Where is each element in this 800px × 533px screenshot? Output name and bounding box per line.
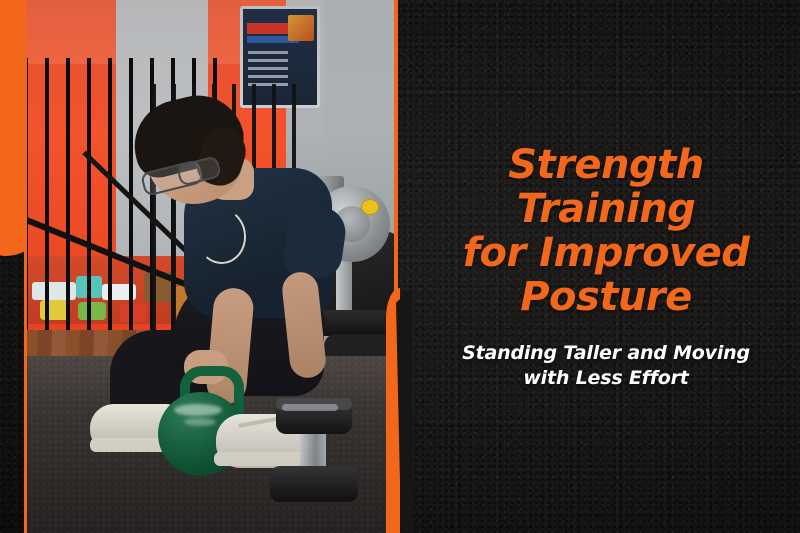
page-title: Strength Training for Improved Posture	[457, 143, 756, 319]
photo-shading	[24, 0, 397, 533]
orange-edge-line-left	[24, 0, 27, 533]
page-subtitle: Standing Taller and Moving with Less Eff…	[438, 341, 774, 391]
text-panel: Strength Training for Improved Posture S…	[412, 0, 800, 533]
banner-canvas: Strength Training for Improved Posture S…	[0, 0, 800, 533]
gym-photo	[24, 0, 397, 533]
orange-divider-stripe	[394, 0, 398, 533]
